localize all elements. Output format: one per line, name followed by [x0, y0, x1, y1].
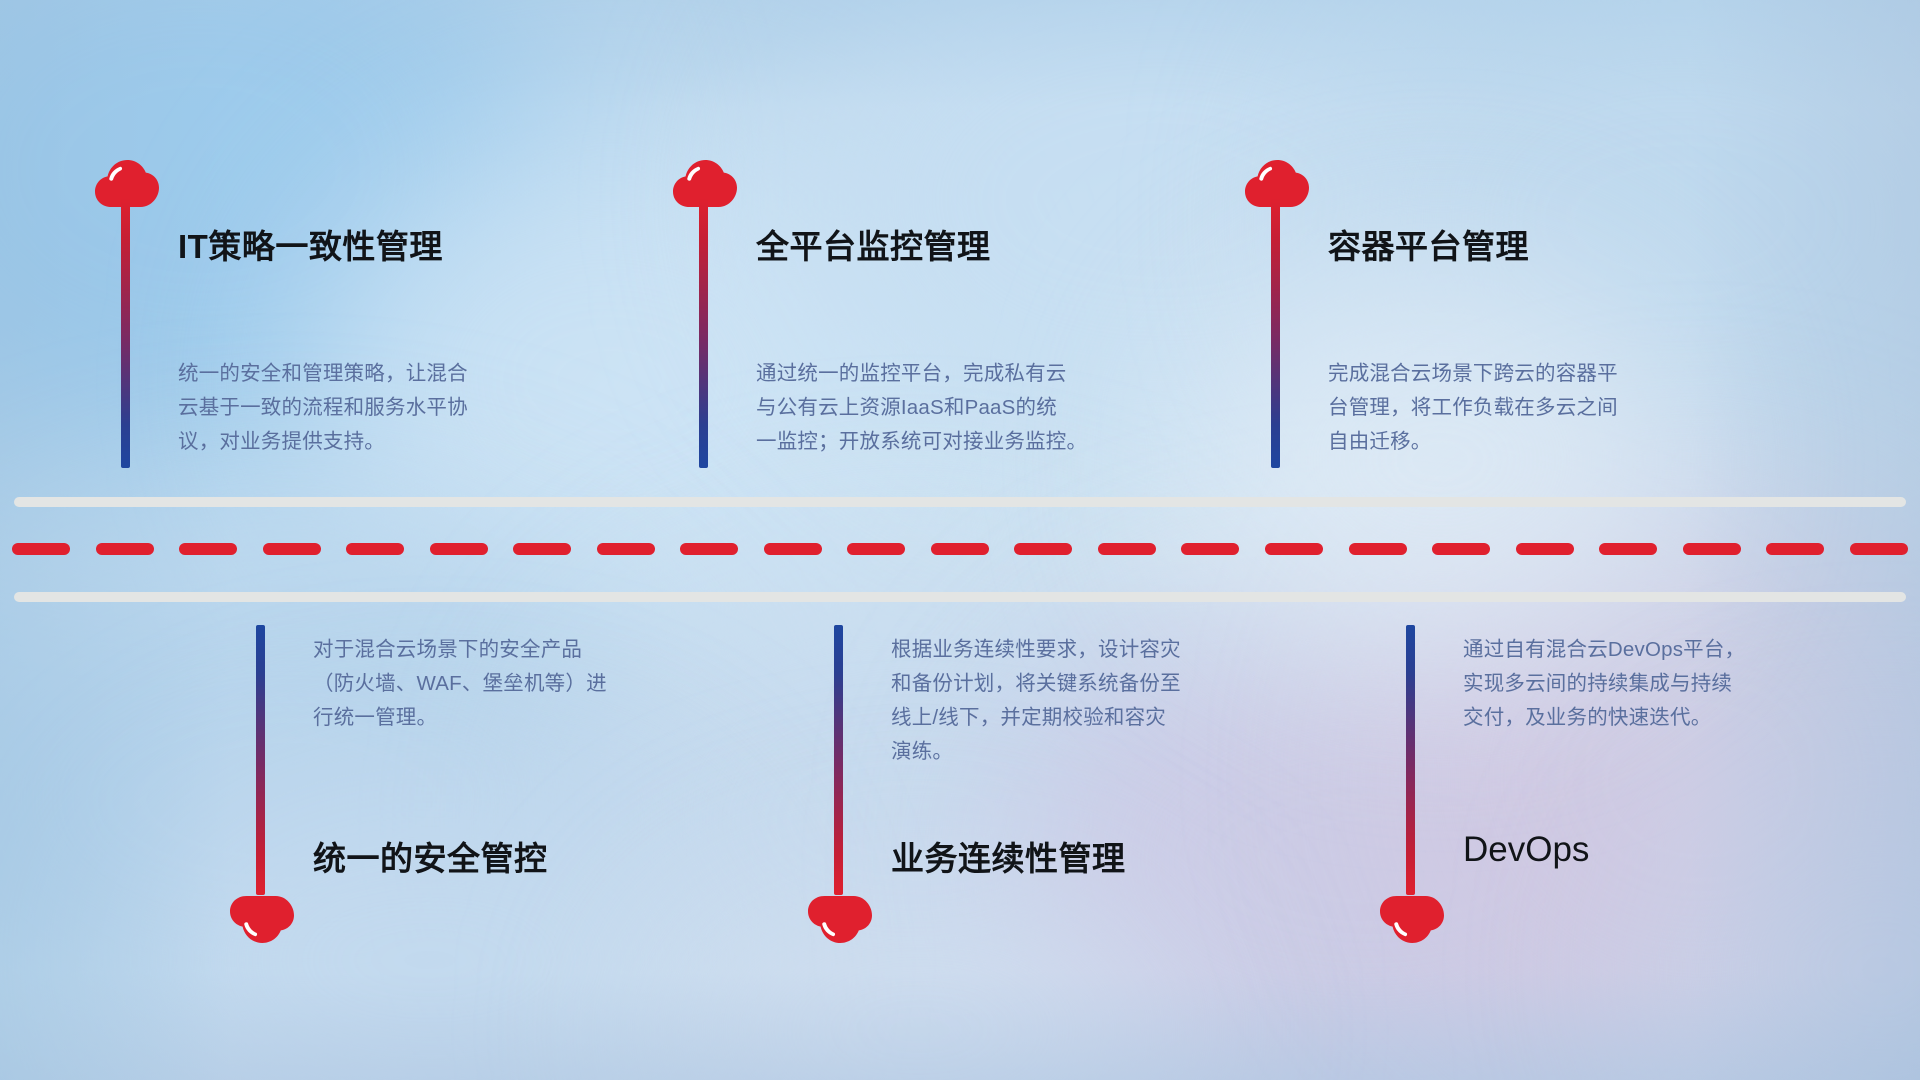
divider-dash	[1098, 543, 1156, 555]
divider-dash	[1265, 543, 1323, 555]
cloud-icon	[1378, 895, 1444, 945]
connector-stem	[1406, 625, 1415, 895]
cloud-icon	[228, 895, 294, 945]
divider-dash	[513, 543, 571, 555]
top-item-heading: IT策略一致性管理	[178, 220, 443, 268]
divider-dash	[1432, 543, 1490, 555]
divider-dash	[1349, 543, 1407, 555]
divider-dash	[346, 543, 404, 555]
divider-dash	[1181, 543, 1239, 555]
bottom-item-heading: 统一的安全管控	[313, 832, 548, 880]
divider-dash	[764, 543, 822, 555]
divider-dash	[1014, 543, 1072, 555]
infographic-canvas: IT策略一致性管理 统一的安全和管理策略，让混合 云基于一致的流程和服务水平协 …	[0, 0, 1920, 1080]
divider-dash	[1766, 543, 1824, 555]
divider-dash	[179, 543, 237, 555]
top-item-body: 通过统一的监控平台，完成私有云 与公有云上资源IaaS和PaaS的统 一监控；开…	[756, 357, 1176, 459]
divider-dash	[931, 543, 989, 555]
bottom-item-heading: 业务连续性管理	[891, 832, 1126, 880]
divider-dash	[96, 543, 154, 555]
divider-line-top	[14, 497, 1906, 507]
divider-dash	[847, 543, 905, 555]
bottom-item-body: 对于混合云场景下的安全产品 （防火墙、WAF、堡垒机等）进 行统一管理。	[313, 633, 743, 735]
divider-dash	[1850, 543, 1908, 555]
top-item-body: 统一的安全和管理策略，让混合 云基于一致的流程和服务水平协 议，对业务提供支持。	[178, 357, 608, 459]
bottom-item-heading: DevOps	[1463, 830, 1589, 870]
connector-stem	[1271, 198, 1280, 468]
top-item-heading: 容器平台管理	[1328, 220, 1529, 268]
bottom-item-body: 通过自有混合云DevOps平台， 实现多云间的持续集成与持续 交付，及业务的快速…	[1463, 633, 1893, 735]
top-item-body: 完成混合云场景下跨云的容器平 台管理，将工作负载在多云之间 自由迁移。	[1328, 357, 1758, 459]
connector-stem	[121, 198, 130, 468]
divider-dash	[1516, 543, 1574, 555]
divider-dash	[680, 543, 738, 555]
divider-dashed-line	[12, 543, 1908, 555]
cloud-icon	[806, 895, 872, 945]
connector-stem	[699, 198, 708, 468]
divider-dash	[263, 543, 321, 555]
divider-dash	[597, 543, 655, 555]
top-item-heading: 全平台监控管理	[756, 220, 991, 268]
divider-dash	[12, 543, 70, 555]
divider-line-bottom	[14, 592, 1906, 602]
divider-dash	[430, 543, 488, 555]
bottom-item-body: 根据业务连续性要求，设计容灾 和备份计划，将关键系统备份至 线上/线下，并定期校…	[891, 633, 1321, 769]
connector-stem	[256, 625, 265, 895]
divider-dash	[1599, 543, 1657, 555]
divider-dash	[1683, 543, 1741, 555]
connector-stem	[834, 625, 843, 895]
